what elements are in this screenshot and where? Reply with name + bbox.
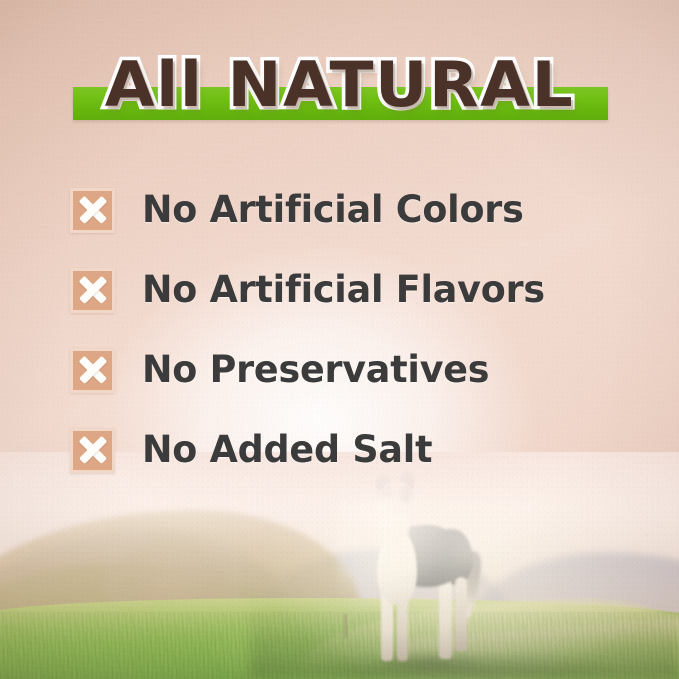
x-mark-icon [70, 348, 115, 393]
list-item-label: No Artificial Colors [142, 190, 524, 230]
list-item: No Artificial Colors [70, 170, 610, 250]
benefit-list: No Artificial Colors No Artificial Flavo… [70, 170, 610, 490]
all-natural-product-poster: All NATURAL No Artificial Colors No Arti… [0, 0, 679, 679]
list-item-label: No Added Salt [142, 430, 432, 470]
page-title: All NATURAL [0, 48, 679, 122]
list-item-label: No Preservatives [142, 350, 489, 390]
x-mark-icon [70, 428, 115, 473]
list-item: No Artificial Flavors [70, 250, 610, 330]
headline-banner: All NATURAL [0, 48, 679, 130]
x-mark-icon [70, 188, 115, 233]
list-item-label: No Artificial Flavors [142, 270, 545, 310]
x-mark-icon [70, 268, 115, 313]
list-item: No Added Salt [70, 410, 610, 490]
list-item: No Preservatives [70, 330, 610, 410]
